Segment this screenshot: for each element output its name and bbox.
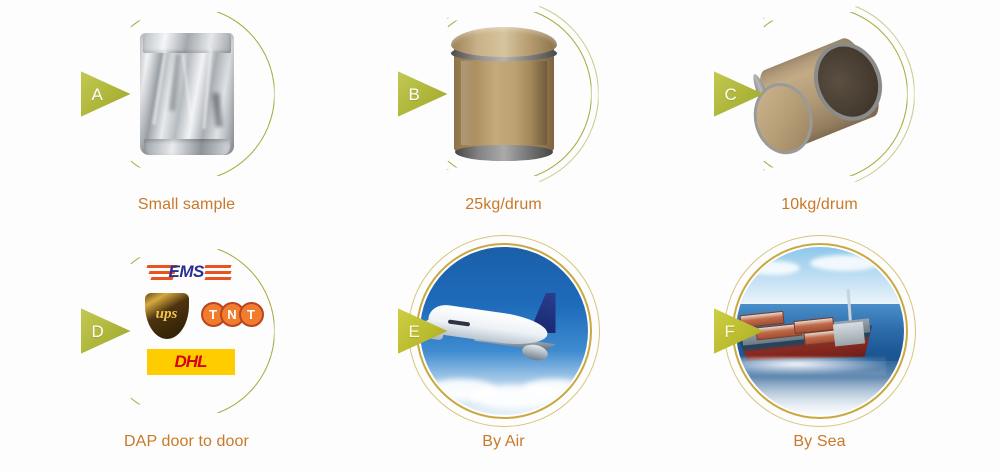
badge-e: E — [398, 305, 448, 357]
circle-10kg-drum: C — [732, 6, 908, 182]
ups-logo-text: ups — [156, 306, 178, 323]
ems-logo-icon: EMS — [147, 261, 231, 283]
dhl-logo-text: DHL — [175, 352, 207, 372]
paper-drum-icon — [451, 27, 557, 161]
circle-small-sample: A — [99, 6, 275, 182]
badge-b: B — [398, 68, 448, 120]
badge-f: F — [714, 305, 764, 357]
badge-letter: D — [92, 323, 104, 340]
caption-by-sea: By Sea — [653, 433, 986, 451]
caption-10kg-drum: 10kg/drum — [653, 196, 986, 214]
badge-letter: B — [409, 86, 420, 103]
panel-by-air[interactable]: E By Air — [337, 237, 670, 473]
triangle-icon — [714, 68, 764, 120]
badge-a: A — [81, 68, 131, 120]
triangle-icon — [398, 305, 448, 357]
badge-letter: F — [725, 323, 735, 340]
circle-by-air: E — [416, 243, 592, 419]
packaging-shipping-infographic: A Small sample B 25kg/drum — [0, 0, 1000, 473]
badge-letter: A — [92, 86, 103, 103]
panel-by-sea[interactable]: F By Sea — [653, 237, 986, 473]
panel-dap-door-to-door[interactable]: EMS ups T N T DHL D DAP door to door — [20, 237, 353, 473]
badge-letter: C — [725, 86, 737, 103]
circle-by-sea: F — [732, 243, 908, 419]
panel-small-sample[interactable]: A Small sample — [20, 0, 353, 236]
ems-logo-text: EMS — [169, 262, 204, 282]
tnt-letter-3: T — [239, 302, 264, 327]
ups-logo-icon: ups — [145, 293, 189, 339]
badge-letter: E — [409, 323, 420, 340]
dhl-logo-icon: DHL — [147, 349, 235, 375]
circle-25kg-drum: B — [416, 6, 592, 182]
triangle-icon — [81, 305, 131, 357]
caption-by-air: By Air — [337, 433, 670, 451]
caption-25kg-drum: 25kg/drum — [337, 196, 670, 214]
circle-dap: EMS ups T N T DHL D — [99, 243, 275, 419]
triangle-icon — [81, 68, 131, 120]
caption-small-sample: Small sample — [20, 196, 353, 214]
foil-pouch-icon — [140, 33, 234, 155]
panel-25kg-drum[interactable]: B 25kg/drum — [337, 0, 670, 236]
triangle-icon — [714, 305, 764, 357]
triangle-icon — [398, 68, 448, 120]
panel-10kg-drum[interactable]: C 10kg/drum — [653, 0, 986, 236]
badge-d: D — [81, 305, 131, 357]
caption-dap-door-to-door: DAP door to door — [20, 433, 353, 451]
tnt-logo-icon: T N T — [201, 301, 271, 327]
badge-c: C — [714, 68, 764, 120]
